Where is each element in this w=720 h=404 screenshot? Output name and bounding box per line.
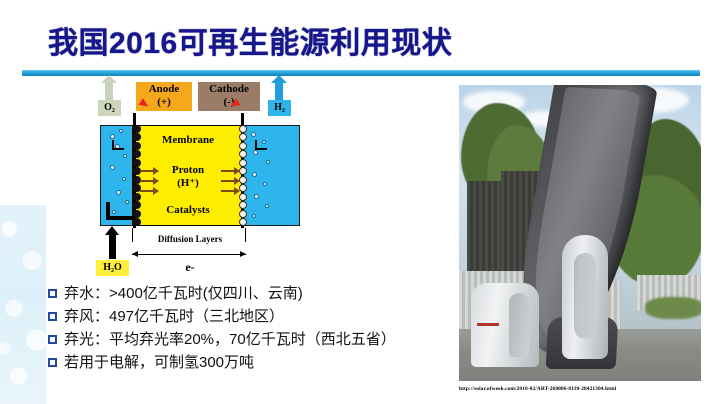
hydrogen-label: H₂: [268, 100, 291, 116]
dispenser-logo: [477, 323, 499, 326]
oxygen-flow-hook-icon: [112, 140, 124, 150]
hydrogen-bubble: [252, 214, 256, 218]
oxygen-bubble: [110, 165, 115, 170]
water-label: H₂O: [96, 260, 129, 276]
water-inlet-hook-icon: [106, 202, 132, 220]
hydrogen-bubble: [263, 182, 267, 186]
bullet-square-icon: [48, 312, 57, 321]
membrane-label: Membrane: [132, 134, 244, 146]
oxygen-bubble: [110, 134, 115, 139]
slide-canvas: 我国2016可再生能源利用现状 O₂ H₂ Anode (+) Cathode …: [0, 0, 720, 404]
list-item: 弃风：497亿千瓦时（三北地区）: [48, 307, 448, 326]
decorative-left-band: [0, 205, 46, 404]
list-item-label: 弃光：平均弃光率20%，70亿千瓦时（西北五省）: [64, 330, 396, 349]
oxygen-bubble: [123, 154, 127, 158]
diffusion-tick-left: [132, 228, 133, 242]
bullet-square-icon: [48, 358, 57, 367]
list-item-label: 弃风：497亿千瓦时（三北地区）: [64, 307, 284, 326]
page-title: 我国2016可再生能源利用现状: [48, 18, 452, 62]
proton-label-group: Proton (H⁺): [132, 164, 244, 190]
fuel-dispenser-tall: [562, 235, 608, 359]
list-item: 弃水：>400亿千瓦时(仅四川、云南): [48, 284, 448, 303]
bullet-square-icon: [48, 335, 57, 344]
photo-source-url: http://solar.ofweek.com/2010-02/ART-2600…: [459, 386, 705, 392]
diffusion-layers-label: Diffusion Layers: [128, 234, 252, 244]
hydrogen-bubble: [253, 150, 258, 155]
proton-label: Proton: [172, 164, 204, 176]
hydrogen-bubble: [265, 204, 269, 208]
hydrogen-bubble: [252, 172, 257, 177]
oxygen-out-arrow-icon: [105, 82, 113, 102]
hydrogen-out-arrow-icon: [275, 82, 283, 102]
anode-label: Anode: [149, 83, 180, 95]
oxygen-bubble: [119, 129, 123, 133]
proton-arrow-icon: [140, 190, 154, 192]
bullet-square-icon: [48, 289, 57, 298]
oxygen-bubble: [122, 177, 126, 181]
hydrogen-flow-hook-icon: [255, 140, 267, 150]
oxygen-bubble: [116, 190, 121, 195]
fuel-dispenser-left: [471, 283, 539, 367]
catalysts-label: Catalysts: [132, 204, 244, 216]
hydrogen-bubble: [254, 194, 259, 199]
electrolysis-diagram: O₂ H₂ Anode (+) Cathode (-): [88, 82, 378, 282]
grass-patch: [645, 297, 701, 319]
cathode-label: Cathode: [209, 83, 249, 95]
proton-arrow-icon: [221, 190, 235, 192]
list-item: 弃光：平均弃光率20%，70亿千瓦时（西北五省）: [48, 330, 448, 349]
list-item: 若用于电解，可制氢300万吨: [48, 353, 448, 372]
cathode-box: Cathode (-): [198, 82, 260, 111]
hydrogen-station-photo: [459, 85, 701, 381]
anode-sign: (+): [157, 96, 171, 108]
proton-formula: (H⁺): [177, 177, 199, 189]
list-item-label: 弃水：>400亿千瓦时(仅四川、云南): [64, 284, 303, 303]
hydrogen-bubble: [266, 160, 270, 164]
diffusion-tick-right: [245, 228, 246, 242]
electron-dimension-line: [132, 254, 246, 255]
title-underline-rule: [22, 70, 700, 76]
list-item-label: 若用于电解，可制氢300万吨: [64, 353, 254, 372]
oxygen-label: O₂: [98, 100, 121, 116]
electron-label: e-: [128, 260, 252, 275]
hydrogen-bubble: [251, 132, 256, 137]
water-in-arrow-icon: [109, 234, 116, 259]
bullet-list: 弃水：>400亿千瓦时(仅四川、云南) 弃风：497亿千瓦时（三北地区） 弃光：…: [48, 284, 448, 376]
